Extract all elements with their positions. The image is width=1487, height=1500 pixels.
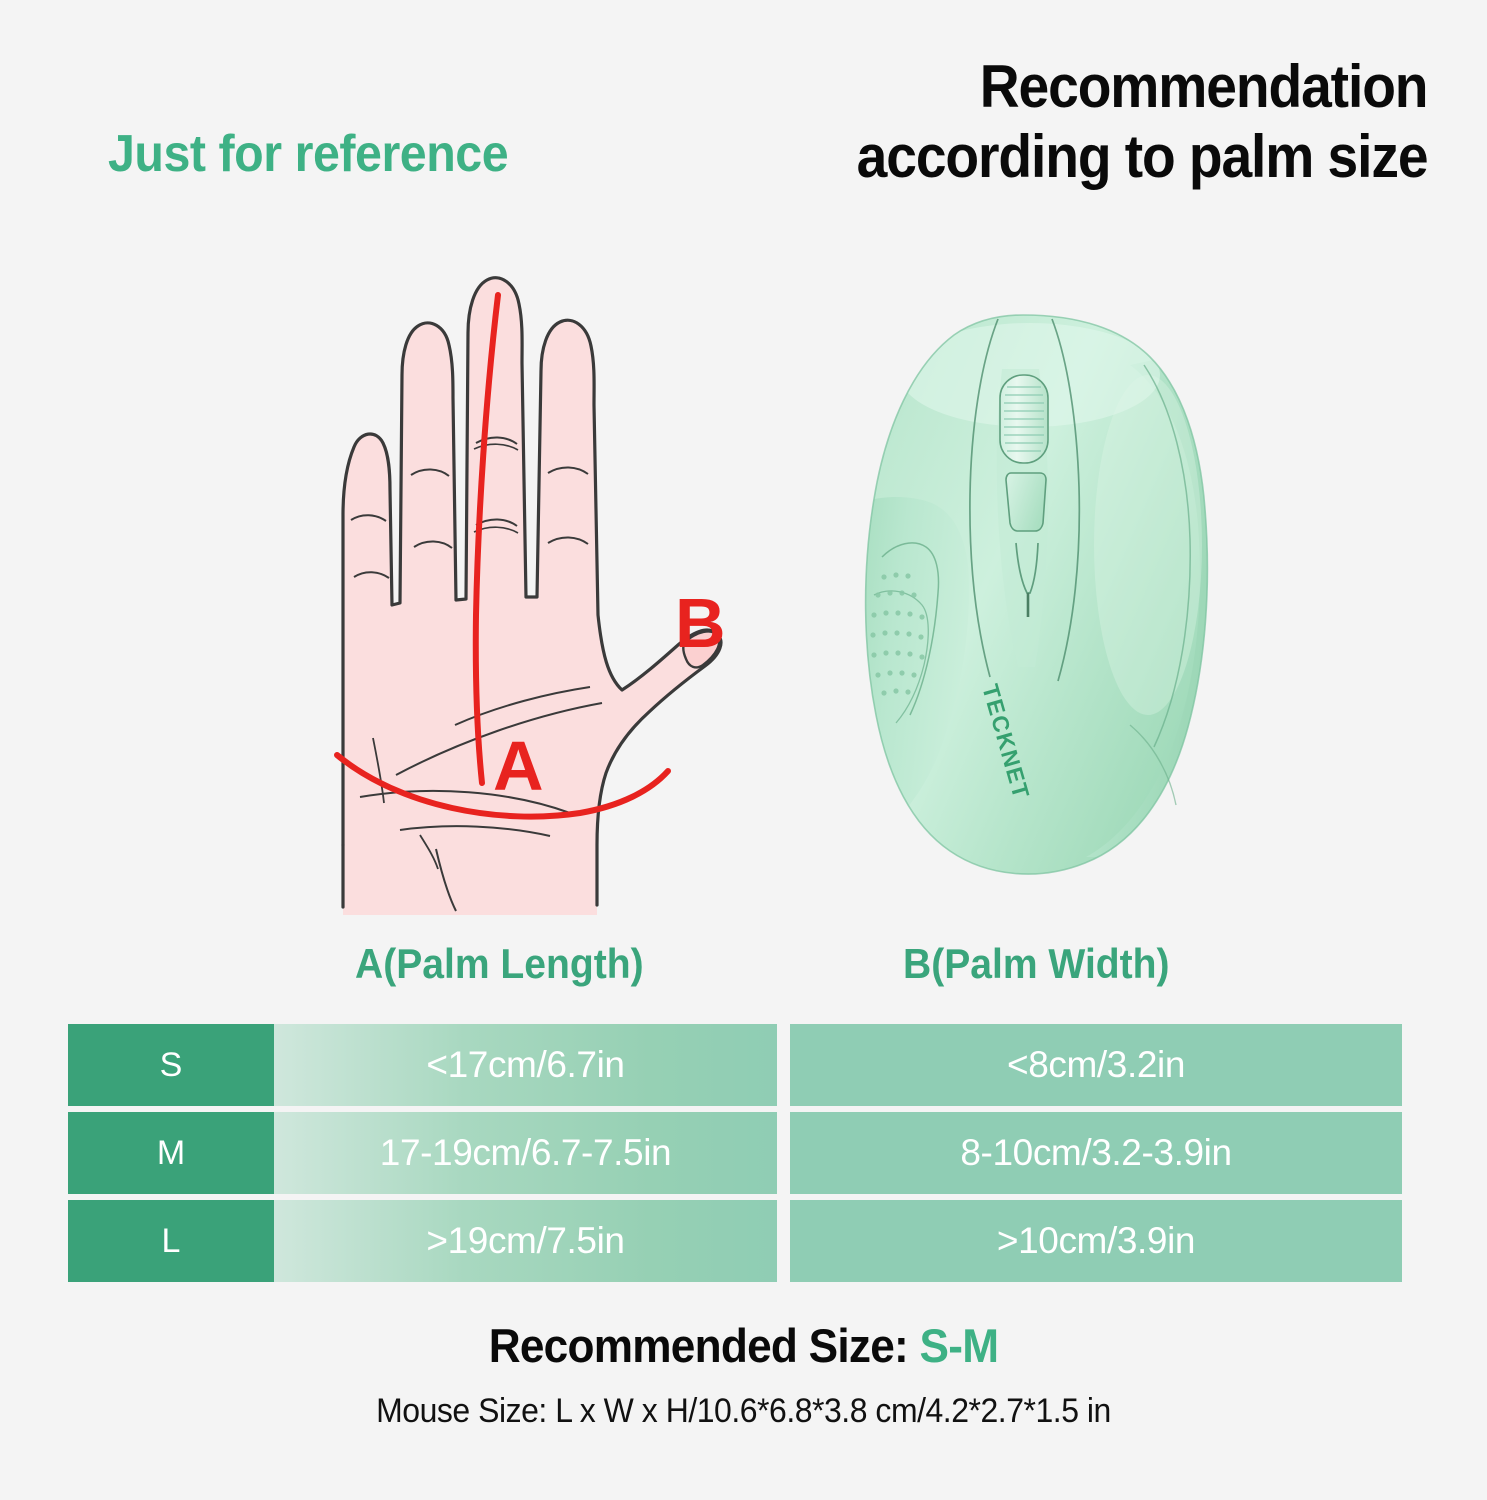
column-header-palm-length: A(Palm Length) bbox=[355, 940, 644, 988]
mouse-product-image: TECKNET bbox=[830, 295, 1260, 895]
dpi-button-icon bbox=[1006, 473, 1046, 531]
page-title: Recommendation according to palm size bbox=[856, 52, 1427, 191]
recommended-size-label: Recommended Size: bbox=[489, 1319, 920, 1372]
page-title-line-1: Recommendation bbox=[856, 52, 1427, 122]
marker-a-label: A bbox=[493, 727, 544, 805]
table-row: L >19cm/7.5in >10cm/3.9in bbox=[0, 1200, 1487, 1282]
palm-length-value-l: >19cm/7.5in bbox=[274, 1200, 777, 1282]
size-label-m: M bbox=[68, 1112, 274, 1194]
palm-length-value-m: 17-19cm/6.7-7.5in bbox=[274, 1112, 777, 1194]
table-row: M 17-19cm/6.7-7.5in 8-10cm/3.2-3.9in bbox=[0, 1112, 1487, 1194]
page-title-line-2: according to palm size bbox=[856, 122, 1427, 192]
size-label-l: L bbox=[68, 1200, 274, 1282]
size-recommendation-table: S <17cm/6.7in <8cm/3.2in M 17-19cm/6.7-7… bbox=[0, 1024, 1487, 1288]
column-header-palm-width: B(Palm Width) bbox=[903, 940, 1170, 988]
palm-length-value-s: <17cm/6.7in bbox=[274, 1024, 777, 1106]
palm-width-value-s: <8cm/3.2in bbox=[790, 1024, 1402, 1106]
reference-note: Just for reference bbox=[108, 124, 508, 184]
marker-b-label: B bbox=[675, 584, 726, 662]
mouse-dimensions: Mouse Size: L x W x H/10.6*6.8*3.8 cm/4.… bbox=[45, 1392, 1443, 1431]
recommended-size: Recommended Size: S-M bbox=[45, 1318, 1443, 1373]
recommended-size-value: S-M bbox=[920, 1319, 999, 1372]
table-row: S <17cm/6.7in <8cm/3.2in bbox=[0, 1024, 1487, 1106]
palm-width-value-l: >10cm/3.9in bbox=[790, 1200, 1402, 1282]
palm-width-value-m: 8-10cm/3.2-3.9in bbox=[790, 1112, 1402, 1194]
size-label-s: S bbox=[68, 1024, 274, 1106]
hand-measurement-diagram: A B bbox=[250, 185, 770, 915]
